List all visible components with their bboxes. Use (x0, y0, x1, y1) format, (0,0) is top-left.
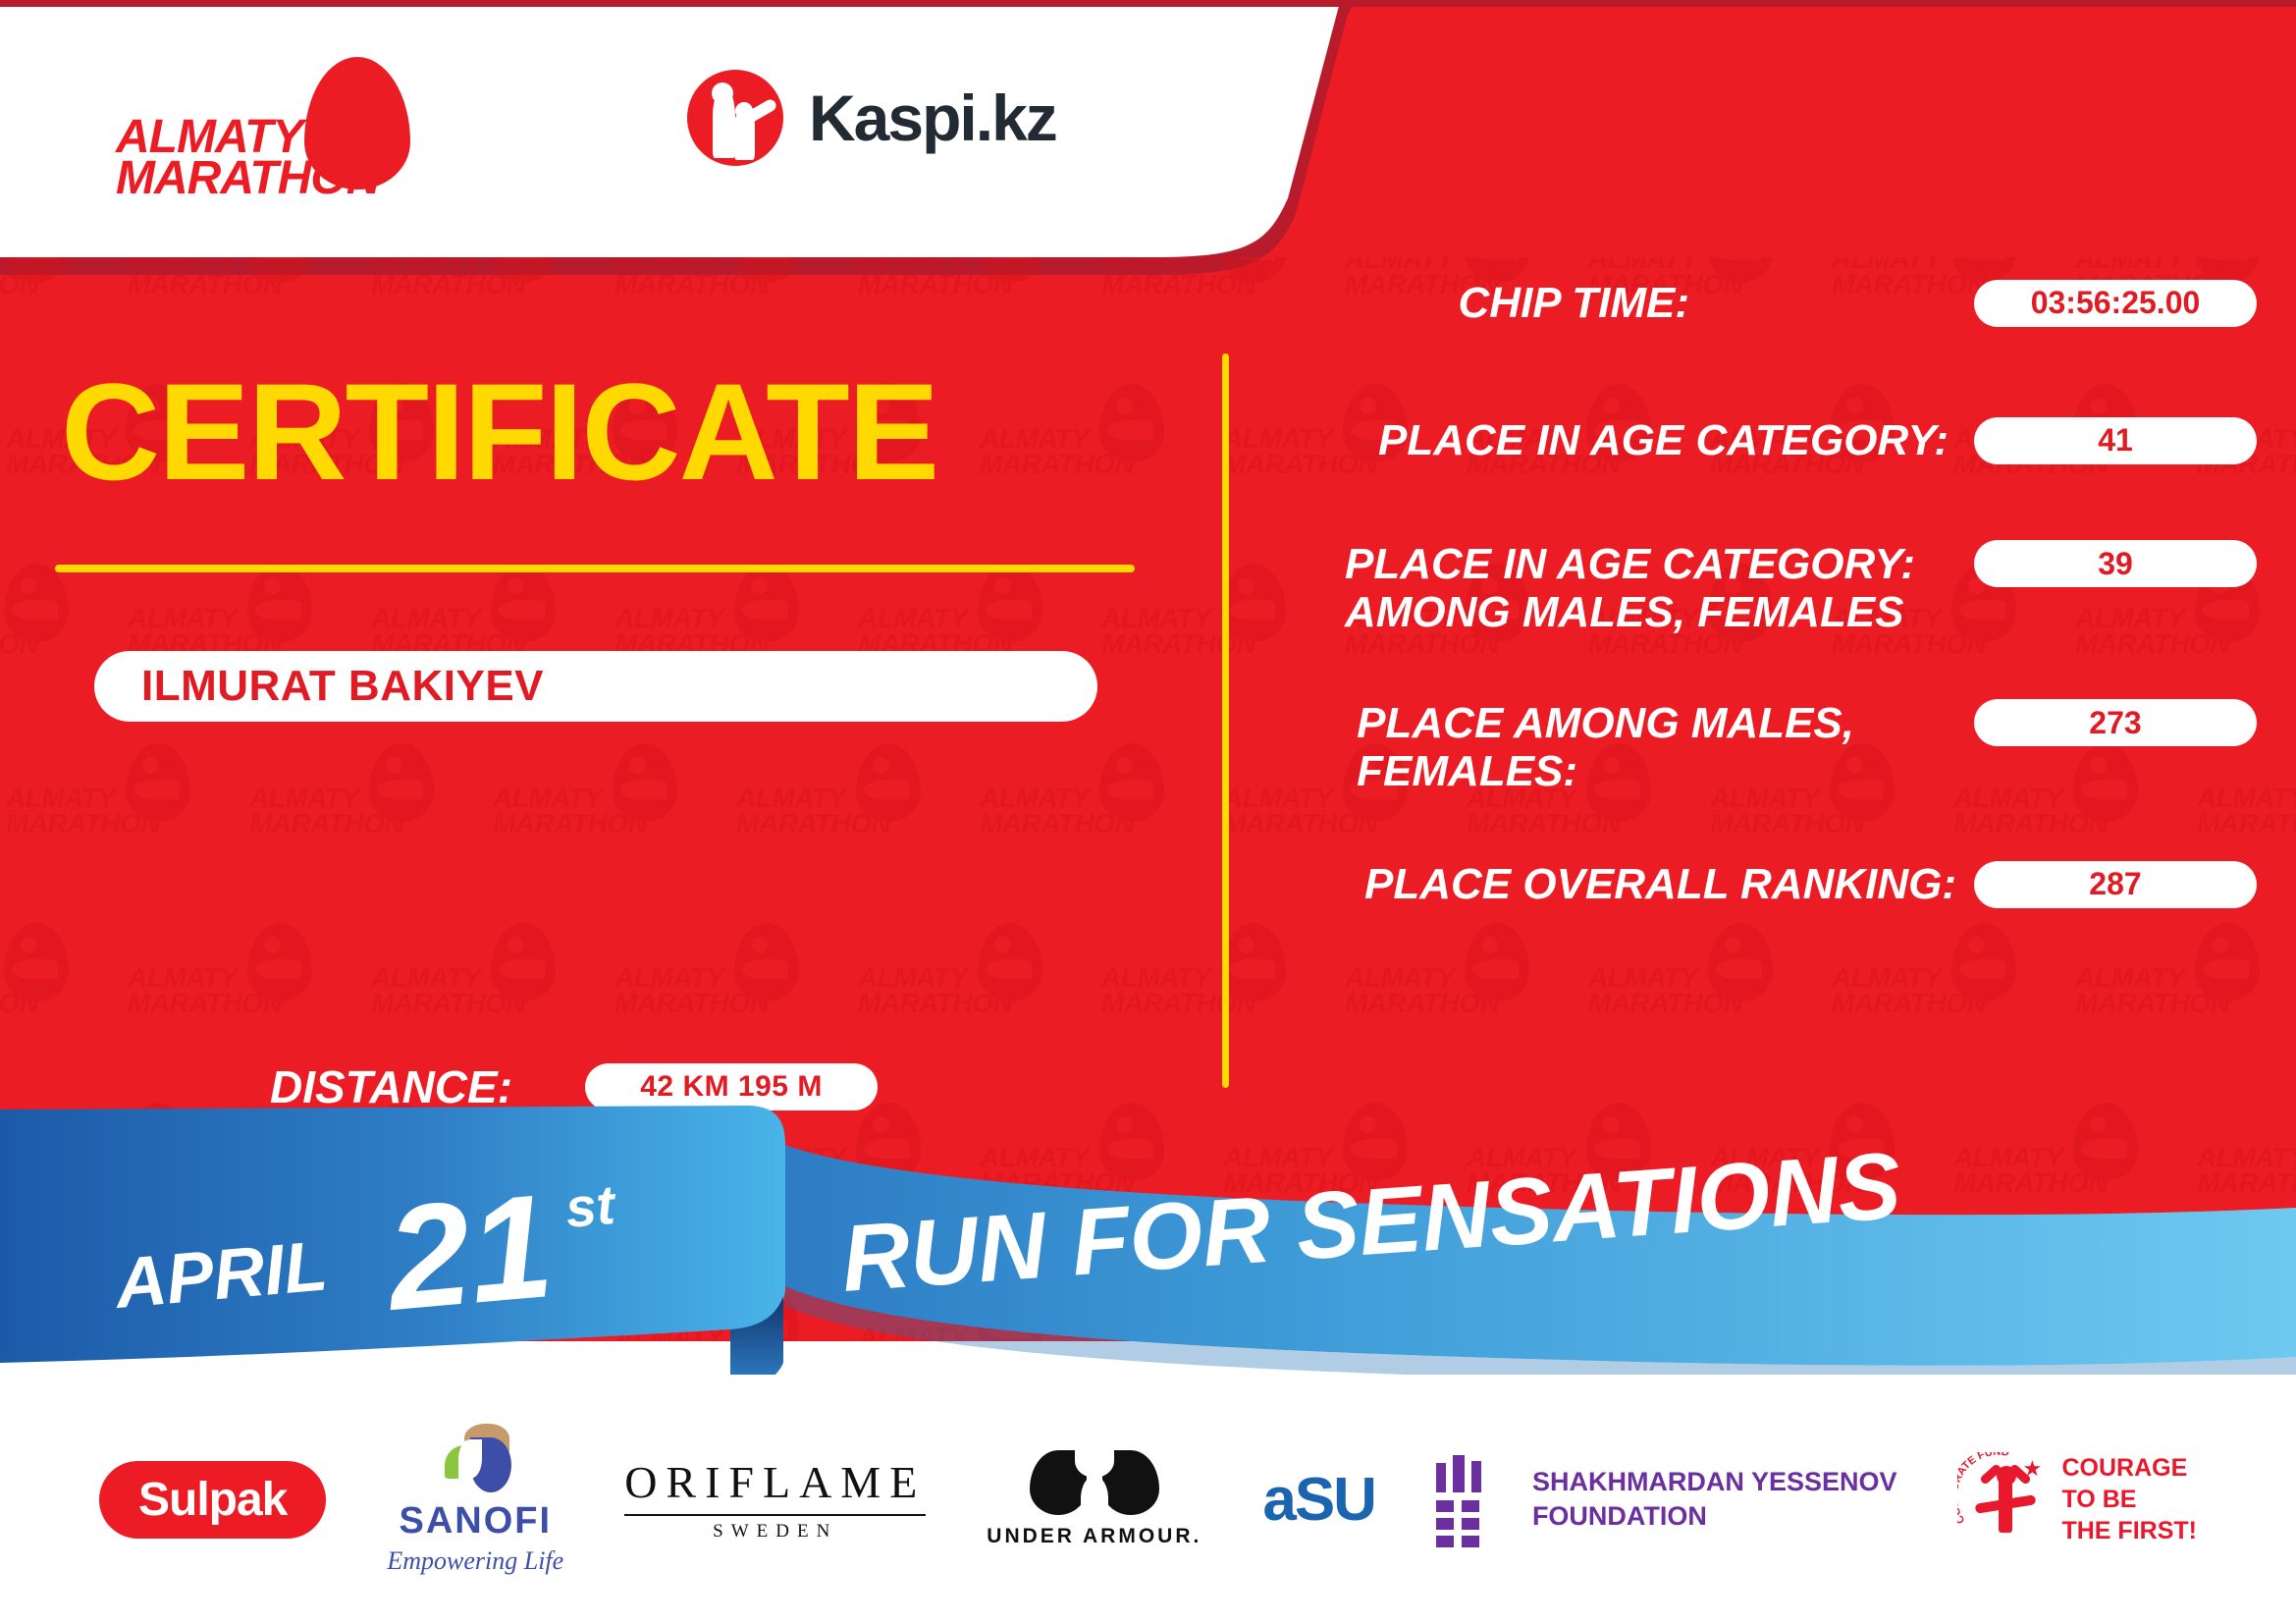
yessenov-bar-7 (1462, 1518, 1479, 1530)
stat-label: PLACE AMONG MALES, FEMALES: (1357, 699, 1854, 796)
sponsor-yessenov-foundation: SHAKHMARDAN YESSENOV FOUNDATION (1436, 1455, 1897, 1543)
certificate-canvas: ALMATYMARATHONALMATYMARATHONALMATYMARATH… (0, 0, 2296, 1624)
title-underline (55, 565, 1135, 572)
yessenov-bar-9 (1462, 1536, 1479, 1547)
yessenov-bar-4 (1436, 1500, 1454, 1512)
oriflame-subtext: SWEDEN (713, 1521, 837, 1543)
ua-top-notch (1075, 1444, 1114, 1478)
runner-head-icon (521, 76, 554, 111)
yessenov-bars-icon (1436, 1455, 1507, 1543)
kaspi-wordmark: Kaspi.kz (809, 81, 1056, 155)
stat-label: CHIP TIME: (1459, 279, 1689, 327)
yessenov-bar-2 (1453, 1455, 1465, 1492)
stat-label: PLACE IN AGE CATEGORY: AMONG MALES, FEMA… (1345, 540, 1915, 637)
participant-name-value: ILMURAT BAKIYEV (141, 662, 544, 711)
sanofi-bird-icon (437, 1424, 513, 1496)
oriflame-rule (624, 1514, 926, 1516)
under-armour-wordmark: UNDER ARMOUR. (987, 1525, 1201, 1548)
asu-wordmark: aSU (1262, 1465, 1375, 1535)
almaty-marathon-logo: ALMATY MARATHON (116, 61, 430, 189)
distance-value: 42 KM 195 M (640, 1070, 823, 1104)
stat-value-pill: 273 (1974, 699, 2257, 746)
sanofi-white-shape (458, 1439, 482, 1479)
top-hairline (0, 0, 2296, 7)
sulpak-wordmark: Sulpak (99, 1461, 326, 1539)
sponsor-footer: Sulpak SANOFI Empowering Life ORIFLAME S… (0, 1375, 2296, 1624)
yessenov-bar-3 (1471, 1461, 1481, 1492)
sanofi-wordmark: SANOFI (400, 1500, 553, 1543)
yessenov-bar-5 (1462, 1500, 1479, 1512)
stat-value-pill: 39 (1974, 540, 2257, 587)
stat-value-pill: 287 (1974, 861, 2257, 908)
stat-label: PLACE IN AGE CATEGORY: (1378, 416, 1949, 464)
stat-value: 03:56:25.00 (2031, 285, 2201, 321)
kaspi-adult-body-icon (713, 89, 735, 158)
stat-label: PLACE OVERALL RANKING: (1364, 860, 1956, 908)
stat-value: 39 (2098, 546, 2133, 582)
sponsor-oriflame: ORIFLAME SWEDEN (624, 1456, 926, 1543)
sponsor-sulpak: Sulpak (99, 1461, 326, 1539)
event-date-ribbon: APRIL 21 st RUN FOR SENSATIONS (0, 1100, 2296, 1414)
stat-row-place-among-males-females: PLACE AMONG MALES, FEMALES: 273 (1357, 699, 2257, 796)
stat-row-chip-time: CHIP TIME: 03:56:25.00 (1459, 279, 2257, 327)
participant-name-field: ILMURAT BAKIYEV (94, 651, 1097, 722)
sponsor-under-armour: UNDER ARMOUR. (987, 1450, 1201, 1548)
yessenov-bar-8 (1436, 1536, 1454, 1547)
stat-value-pill: 41 (1974, 417, 2257, 464)
stat-row-place-overall-ranking: PLACE OVERALL RANKING: 287 (1364, 860, 2257, 908)
stat-row-place-age-category: PLACE IN AGE CATEGORY: 41 (1378, 416, 2257, 464)
kaspi-logo: Kaspi.kz (687, 67, 1056, 169)
header-bar: ALMATY MARATHON Kaspi.kz (0, 0, 1296, 257)
sponsor-sanofi: SANOFI Empowering Life (387, 1424, 563, 1576)
star-icon: ★ (2022, 1458, 2042, 1480)
oriflame-wordmark: ORIFLAME (624, 1456, 926, 1508)
stat-value: 287 (2089, 866, 2141, 902)
stat-row-place-age-category-among: PLACE IN AGE CATEGORY: AMONG MALES, FEMA… (1345, 540, 2257, 637)
sponsor-courage-fund: CORPORATE FUND ★ COURAGE TO BE THE FIRST… (1957, 1448, 2197, 1550)
stat-value-pill: 03:56:25.00 (1974, 280, 2257, 327)
stat-value: 41 (2098, 422, 2133, 459)
yessenov-wordmark: SHAKHMARDAN YESSENOV FOUNDATION (1532, 1465, 1897, 1534)
stat-value: 273 (2089, 705, 2141, 741)
kaspi-arm-icon (743, 97, 777, 124)
under-armour-icon (1030, 1450, 1159, 1515)
courage-figure-icon: CORPORATE FUND ★ (1957, 1448, 2052, 1550)
courage-wordmark: COURAGE TO BE THE FIRST! (2061, 1452, 2197, 1546)
kaspi-people-icon (687, 70, 783, 166)
yessenov-bar-6 (1436, 1518, 1454, 1530)
sponsor-asu: aSU (1262, 1465, 1375, 1535)
sanofi-tagline: Empowering Life (387, 1546, 563, 1576)
vertical-divider (1222, 353, 1229, 1088)
yessenov-bar-1 (1436, 1463, 1446, 1492)
page-title: CERTIFICATE (61, 363, 937, 501)
ua-center-gap (1081, 1476, 1108, 1521)
logo-line-2: MARATHON (116, 151, 379, 205)
ribbon-day: 21 (378, 1163, 559, 1341)
ribbon-day-suffix: st (563, 1173, 619, 1239)
